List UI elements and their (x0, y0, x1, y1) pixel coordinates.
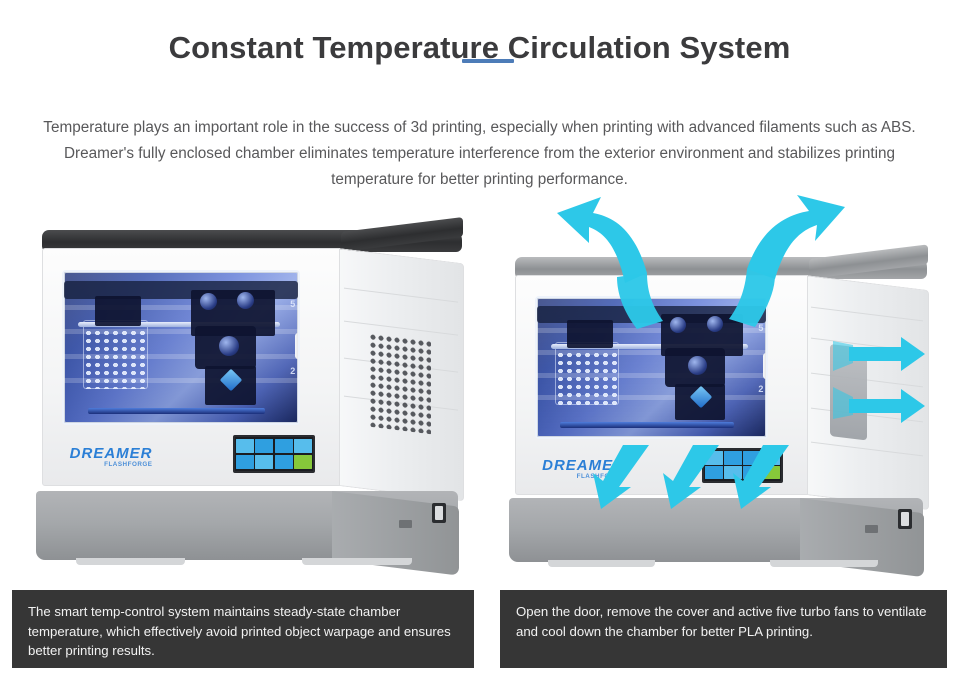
printer-side-panel (339, 248, 464, 501)
build-plate-open (560, 422, 734, 428)
intro-paragraph: Temperature plays an important role in t… (28, 115, 931, 193)
chamber-window: 5 2 (62, 270, 300, 425)
printer-side-panel-open (806, 275, 929, 510)
screen-icon-settings[interactable] (236, 439, 254, 454)
screen-icon-add-open[interactable] (762, 451, 779, 464)
door-label-top: 5 (290, 299, 295, 309)
screen-icon-add[interactable] (294, 439, 312, 454)
power-socket-icon (432, 503, 446, 523)
screen-icon-info-open[interactable] (743, 466, 760, 479)
printer-base (36, 491, 458, 560)
filament-spool-grid (83, 320, 148, 388)
usb-port-icon-open (865, 525, 878, 533)
build-plate (88, 408, 266, 414)
brand-sub-open: FLASHFORGE (542, 473, 625, 480)
screen-icon-filament[interactable] (255, 439, 273, 454)
printer-front-face: 5 2 DREAMER FLASHFORGE (42, 248, 340, 486)
screen-icon-level[interactable] (275, 439, 293, 454)
touchscreen-panel[interactable] (233, 435, 316, 473)
screen-icon-print[interactable] (255, 455, 273, 470)
printer-top-cover-side (341, 217, 463, 252)
brand-logo-open: DREAMER FLASHFORGE (542, 457, 625, 480)
brand-name: DREAMER (70, 445, 153, 462)
printer-open: 5 2 DREAMER FLASHFORGE (515, 257, 927, 562)
figure-closed-chamber: 5 2 DREAMER FLASHFORGE (12, 195, 474, 585)
printer-base-open (509, 498, 923, 562)
screen-icon-settings-open[interactable] (705, 451, 722, 464)
power-socket-icon-open (898, 509, 912, 529)
screen-icon-start-open[interactable] (762, 466, 779, 479)
printer-top-open-rim-side (809, 244, 928, 279)
screen-icon-print-open[interactable] (724, 466, 741, 479)
screen-icon-tools[interactable] (236, 455, 254, 470)
title-underline-rule (462, 59, 514, 63)
printer-front-face-open: 5 2 DREAMER FLASHFORGE (515, 275, 808, 495)
screen-icon-filament-open[interactable] (724, 451, 741, 464)
screen-icon-info[interactable] (275, 455, 293, 470)
screen-icon-start[interactable] (294, 455, 312, 470)
door-label-bottom: 2 (290, 366, 295, 376)
touchscreen-panel-open[interactable] (702, 448, 783, 483)
screen-icon-tools-open[interactable] (705, 466, 722, 479)
caption-left: The smart temp-control system maintains … (12, 590, 474, 668)
chamber-window-open: 5 2 (535, 296, 769, 439)
caption-right: Open the door, remove the cover and acti… (500, 590, 947, 668)
screen-icon-level-open[interactable] (743, 451, 760, 464)
product-feature-page: Constant Temperature Circulation System … (0, 0, 959, 700)
side-vent-holes-icon (368, 333, 430, 435)
figure-open-chamber: 5 2 DREAMER FLASHFORGE (497, 195, 947, 585)
door-label-top-open: 5 (758, 323, 763, 333)
side-fan-vent-panel (830, 344, 867, 440)
usb-port-icon (399, 520, 412, 528)
door-handle-open[interactable] (763, 353, 768, 379)
brand-name-open: DREAMER (542, 457, 625, 474)
brand-logo: DREAMER FLASHFORGE (70, 445, 153, 468)
door-label-bottom-open: 2 (758, 384, 763, 394)
filament-spool-grid-open (555, 342, 619, 405)
brand-sub: FLASHFORGE (70, 461, 153, 468)
printer-closed: 5 2 DREAMER FLASHFORGE (42, 230, 462, 560)
door-handle[interactable] (295, 333, 300, 359)
